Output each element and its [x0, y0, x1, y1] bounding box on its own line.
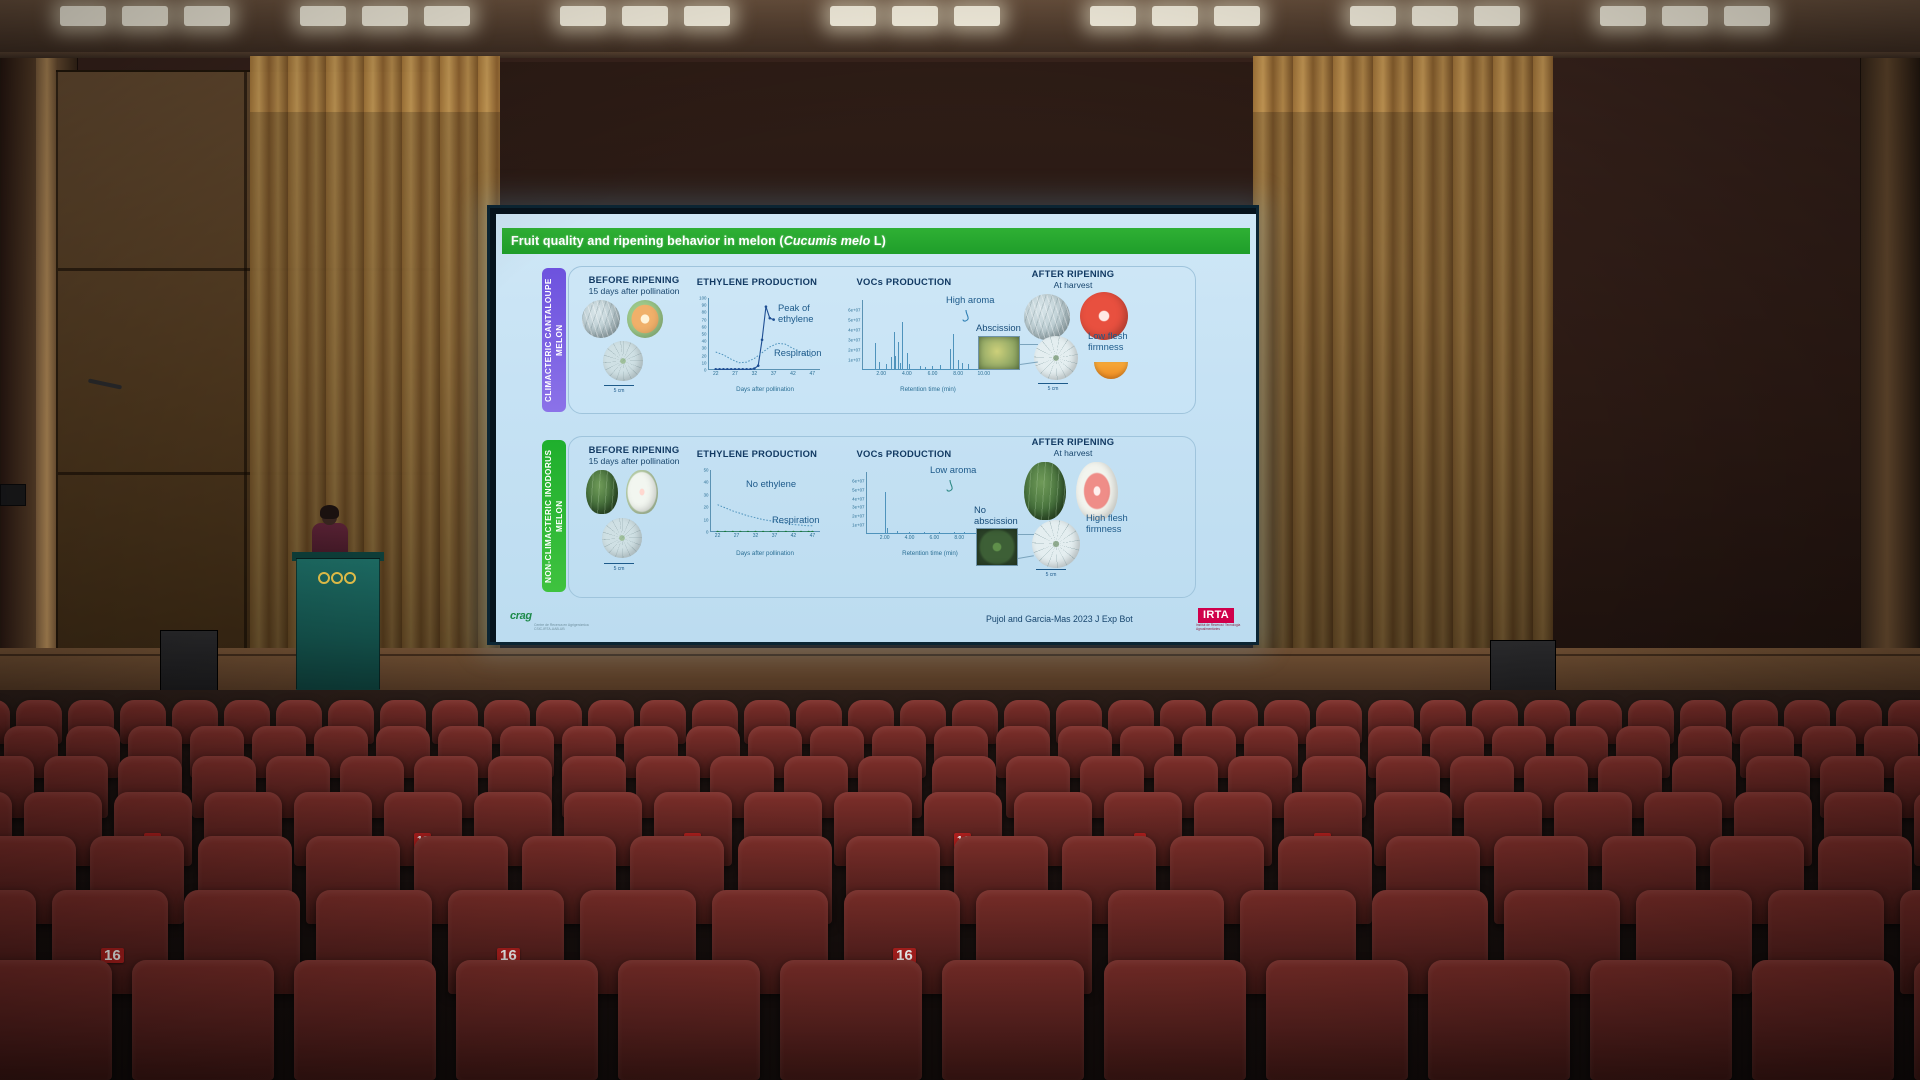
slide-citation: Pujol and Garcia-Mas 2023 J Exp Bot [986, 614, 1133, 624]
high-aroma-note: High aroma [946, 294, 994, 305]
audience-seat [942, 960, 1084, 1080]
projection-screen: Fruit quality and ripening behavior in m… [487, 205, 1259, 645]
x-axis-tick: 8.00 [953, 371, 963, 377]
chromatogram-peak [953, 334, 954, 370]
after-ripening-sub-top: At harvest [1008, 280, 1138, 290]
audience-seat [1590, 960, 1732, 1080]
ceiling-light [622, 6, 668, 26]
ceiling-light [362, 6, 408, 26]
ceiling-light [954, 6, 1000, 26]
x-axis-tick: 42 [790, 371, 796, 377]
ceiling-light [1412, 6, 1458, 26]
y-axis-tick: 3e+07 [848, 338, 860, 343]
y-axis-tick: 20 [702, 353, 707, 358]
before-ripening-sub-top: 15 days after pollination [572, 286, 696, 296]
scale-bar-before-top: 5 cm [604, 388, 634, 394]
ceiling-light [122, 6, 168, 26]
y-axis-tick: 4e+07 [848, 328, 860, 333]
y-axis-tick: 2e+07 [848, 348, 860, 353]
chromatogram-peak [950, 349, 951, 370]
ceiling-light [1214, 6, 1260, 26]
wall-control-box [0, 484, 26, 506]
ceiling-light [424, 6, 470, 26]
vocs-xlabel-top: Retention time (min) [852, 386, 1004, 393]
nose-icon-top [960, 310, 970, 323]
respiration-note-top: Respiration [774, 347, 821, 358]
x-axis-tick: 10.00 [977, 371, 990, 377]
ethylene-xlabel-top: Days after pollination [694, 386, 836, 393]
nonclimacteric-row-panel [568, 436, 1196, 598]
y-axis-tick: 10 [702, 360, 707, 365]
y-axis-tick: 60 [702, 324, 707, 329]
ceiling-light [1724, 6, 1770, 26]
y-axis-tick: 90 [702, 303, 707, 308]
chromatogram-peak [902, 322, 903, 370]
x-axis-tick: 6.00 [928, 371, 938, 377]
abscission-note: Abscission [976, 322, 1021, 333]
ceiling-light [560, 6, 606, 26]
before-ripening-heading-top: BEFORE RIPENING [576, 274, 692, 285]
audience-seat [780, 960, 922, 1080]
melon-whole-netted-before-top [582, 300, 620, 338]
x-axis-tick: 4.00 [902, 371, 912, 377]
crag-logo: crag [510, 610, 532, 622]
chromatogram-peak [895, 356, 896, 370]
x-axis-tick: 2.00 [876, 371, 886, 377]
ceiling-light [1350, 6, 1396, 26]
audience-seat [618, 960, 760, 1080]
ceiling-light [184, 6, 230, 26]
ceiling-light [892, 6, 938, 26]
audience-seat [1752, 960, 1894, 1080]
audience-seat [1266, 960, 1408, 1080]
x-axis-tick: 27 [732, 371, 738, 377]
ceiling-light [830, 6, 876, 26]
audience-seat [294, 960, 436, 1080]
low-flesh-firmness-note: Low flesh firmness [1088, 330, 1140, 352]
melon-topview-before-top [603, 341, 643, 381]
chromatogram-peak [898, 342, 899, 370]
audience-seat [1914, 792, 1920, 866]
ceiling-light [1662, 6, 1708, 26]
scale-bar-after-top: 5 cm [1038, 386, 1068, 392]
ceiling-light [1152, 6, 1198, 26]
audience-seat [132, 960, 274, 1080]
crag-logo-subtitle: Centre de Recerca en Agrigenòmica CSIC-I… [534, 623, 590, 631]
peak-of-ethylene-note: Peak of ethylene [778, 302, 836, 324]
podium-emblem [318, 570, 358, 586]
y-axis-tick: 80 [702, 310, 707, 315]
ceiling-light [1090, 6, 1136, 26]
audience-seat [1428, 960, 1570, 1080]
melon-whole-netted-after-top [1024, 294, 1070, 340]
irta-logo: IRTA [1198, 608, 1234, 623]
slide-title-bar: Fruit quality and ripening behavior in m… [502, 228, 1250, 254]
melon-peduncle-closeup-top [1034, 336, 1078, 380]
audience-seat [0, 960, 112, 1080]
ceiling-light [1474, 6, 1520, 26]
y-axis-tick: 6e+07 [848, 308, 860, 313]
audience-area: 17161614113161616 [0, 690, 1920, 1080]
slide-title-text: Fruit quality and ripening behavior in m… [511, 234, 886, 248]
y-axis-tick: 40 [702, 339, 707, 344]
y-axis-tick: 1e+07 [848, 358, 860, 363]
chromatogram-peak [907, 353, 908, 370]
y-axis-tick: 30 [702, 346, 707, 351]
x-axis-tick: 32 [752, 371, 758, 377]
ceiling-light [684, 6, 730, 26]
audience-seat [1914, 960, 1920, 1080]
irta-logo-subtitle: Institut de Recerca i Tecnologia Agroali… [1196, 624, 1246, 632]
audience-seat [1104, 960, 1246, 1080]
nonclimacteric-row-tag: NON-CLIMACTERIC INODORUS MELON [542, 440, 566, 592]
stage-curtain-right [1253, 56, 1553, 676]
vocs-chart-top: 1e+072e+073e+074e+075e+076e+072.004.006.… [862, 300, 994, 370]
x-axis-tick: 47 [809, 371, 815, 377]
chromatogram-baseline [862, 369, 994, 370]
ceiling-light [300, 6, 346, 26]
presenter-hair [320, 505, 339, 519]
ceiling-light [1600, 6, 1646, 26]
ethylene-heading-top: ETHYLENE PRODUCTION [686, 276, 828, 287]
y-axis-tick: 0 [704, 368, 706, 373]
y-axis-tick: 70 [702, 317, 707, 322]
ceiling-light [60, 6, 106, 26]
abscission-zone-photo [978, 336, 1020, 370]
after-ripening-heading-top: AFTER RIPENING [1008, 268, 1138, 279]
climacteric-row-tag: CLIMACTERIC CANTALOUPE MELON [542, 268, 566, 412]
chromatogram-peak [875, 343, 876, 370]
y-axis-tick: 100 [699, 296, 706, 301]
x-axis-tick: 37 [771, 371, 777, 377]
y-axis-tick: 50 [702, 332, 707, 337]
melon-cut-orange-before-top [627, 300, 663, 338]
audience-seat [456, 960, 598, 1080]
presentation-slide: Fruit quality and ripening behavior in m… [496, 214, 1256, 642]
y-axis-tick: 5e+07 [848, 318, 860, 323]
vocs-heading-top: VOCs PRODUCTION [840, 276, 968, 287]
x-axis-tick: 22 [713, 371, 719, 377]
auditorium-scene: Fruit quality and ripening behavior in m… [0, 0, 1920, 1080]
